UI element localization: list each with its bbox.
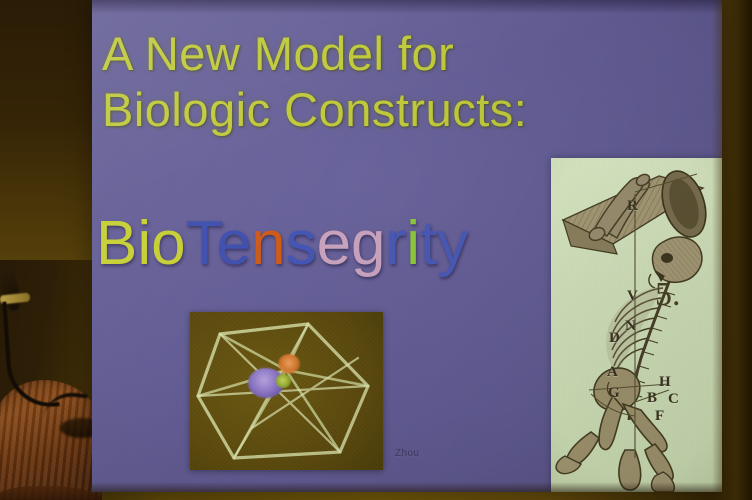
engraving-label-V: V xyxy=(627,288,638,305)
tensegrity-struts xyxy=(190,312,383,470)
tensegrity-orange-node xyxy=(278,354,300,374)
engraving-label-H: H xyxy=(659,374,671,391)
wordmark-segment-eg: eg xyxy=(317,209,386,278)
wordmark-segment-s: s xyxy=(286,209,317,278)
wordmark-segment-n: n xyxy=(251,209,285,278)
engraving-label-F: F xyxy=(655,408,664,425)
wordmark-segment-i: i xyxy=(406,209,420,278)
slide-top-fade xyxy=(92,0,722,14)
engraving-label-D: D xyxy=(609,330,620,347)
wordmark-segment-ty: ty xyxy=(420,209,468,278)
tensegrity-icosahedron-image xyxy=(190,312,383,470)
engraving-label-R: R xyxy=(627,198,638,215)
slide-title-line-2: Biologic Constructs: xyxy=(102,82,682,138)
engraving-label-B: B xyxy=(647,390,657,407)
tensegrity-green-node xyxy=(276,374,291,388)
wordmark-segment-r: r xyxy=(386,209,407,278)
wordmark-segment-te: Te xyxy=(186,209,251,278)
wall-dark-corner xyxy=(0,0,94,260)
slide-title-line-1: A New Model for xyxy=(102,26,682,82)
engraving-label-A: A xyxy=(607,364,618,381)
presentation-photo-scene: A New Model for Biologic Constructs: Bio… xyxy=(0,0,752,500)
wall-right-shadow xyxy=(712,0,752,500)
skeleton-engraving-image: 5. R V N D A G B H C F xyxy=(551,158,722,492)
slide-title: A New Model for Biologic Constructs: xyxy=(102,26,682,138)
engraving-label-G: G xyxy=(608,385,620,402)
tensegrity-credit: Zhou xyxy=(395,448,419,459)
wordmark-segment-bio: Bio xyxy=(96,209,186,278)
engraving-label-C: C xyxy=(668,391,679,408)
projected-slide: A New Model for Biologic Constructs: Bio… xyxy=(92,0,722,492)
engraving-figure-number: 5. xyxy=(655,276,681,314)
engraving-label-N: N xyxy=(625,318,636,335)
biotensegrity-wordmark: BioTensegrity xyxy=(96,208,468,280)
